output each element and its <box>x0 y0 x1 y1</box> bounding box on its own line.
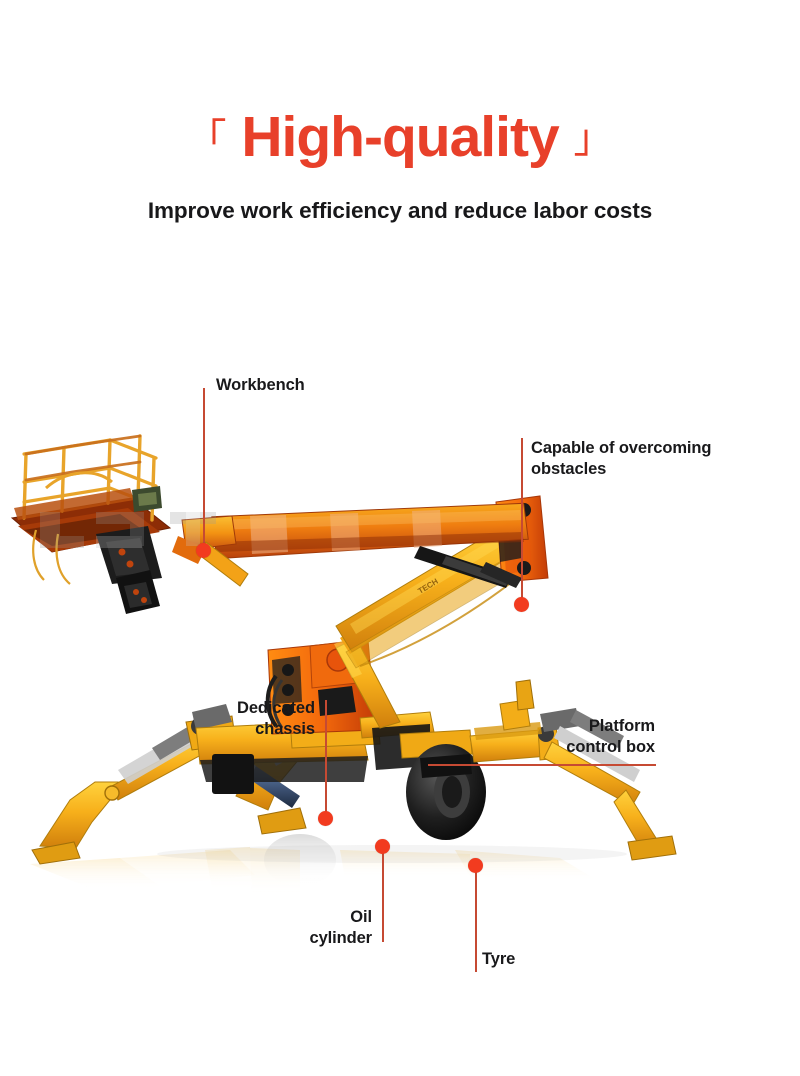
workbench-platform <box>12 436 170 614</box>
marker-obstacles <box>514 597 529 612</box>
leader-line-workbench <box>203 388 205 554</box>
ground-shadow <box>157 845 627 863</box>
bracket-close-glyph: 」 <box>574 117 614 161</box>
marker-tyre <box>468 858 483 873</box>
boom-lift-graphic: TECH <box>0 330 800 950</box>
marker-workbench <box>196 543 211 558</box>
marker-chassis <box>318 811 333 826</box>
callout-platform-control-box: Platform control box <box>500 716 655 758</box>
ground-reflection <box>30 834 610 900</box>
leader-line-tyre <box>475 862 477 972</box>
leader-line-chassis <box>325 700 327 822</box>
infographic-page: 「 High-quality 」 Improve work efficiency… <box>0 0 800 1076</box>
callout-oil-cylinder: Oil cylinder <box>250 907 372 949</box>
leader-line-oil-cylinder <box>382 846 384 942</box>
callout-obstacles: Capable of overcoming obstacles <box>531 438 711 480</box>
callout-tyre: Tyre <box>482 949 515 970</box>
page-subtitle: Improve work efficiency and reduce labor… <box>0 194 800 227</box>
marker-oil-cylinder <box>375 839 390 854</box>
page-title: 「 High-quality 」 <box>0 108 800 168</box>
callout-workbench: Workbench <box>216 375 305 396</box>
product-illustration: TECH <box>0 330 800 950</box>
leader-line-platform-control-box <box>428 764 656 766</box>
leader-line-obstacles <box>521 438 523 608</box>
bracket-open-glyph: 「 <box>187 117 227 161</box>
title-text: High-quality <box>241 105 558 169</box>
callout-dedicated-chassis: Dedicated chassis <box>180 698 315 740</box>
